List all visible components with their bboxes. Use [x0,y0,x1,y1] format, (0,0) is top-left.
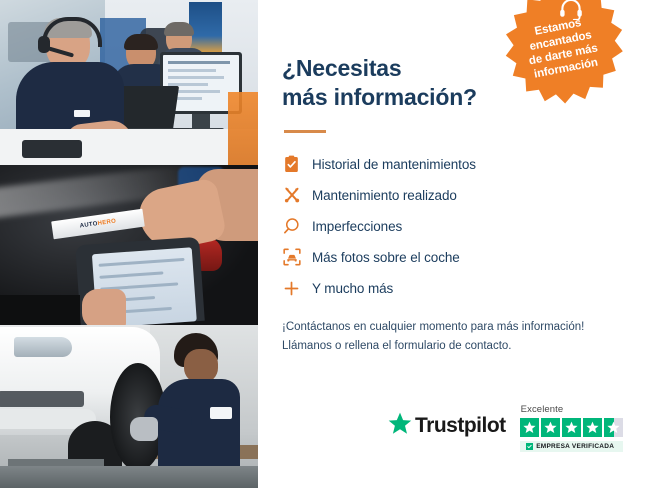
trustpilot-rating: Excelente [520,404,623,452]
crossed-tools-icon [282,185,312,205]
trustpilot-wordmark: Trustpilot [415,414,506,438]
feature-item-maintenance-history: Historial de mantenimientos [282,149,628,180]
autohero-brand-text: AUTOHERO [79,218,116,229]
feature-label: Y mucho más [312,281,393,296]
content-panel: ¿Necesitas más información? Historial de… [258,0,650,488]
feature-item-imperfections: Imperfecciones [282,211,628,242]
page-title: ¿Necesitas más información? [282,54,512,113]
photo-column: AUTOHERO [0,0,258,488]
photo3-mechanic [158,333,240,488]
star-icon [562,418,581,437]
rating-label: Excelente [520,404,564,415]
feature-label: Imperfecciones [312,219,402,234]
star-rating [520,418,623,437]
photo2-shadow [0,295,80,325]
verified-label: EMPRESA VERIFICADA [536,443,614,450]
star-icon [541,418,560,437]
feature-list: Historial de mantenimientos M [282,149,628,304]
feature-item-maintenance-done: Mantenimiento realizado [282,180,628,211]
feature-item-more-photos: Más fotos sobre el coche [282,242,628,273]
feature-item-much-more: Y mucho más [282,273,628,304]
star-icon-partial [604,418,623,437]
feature-label: Más fotos sobre el coche [312,250,460,265]
verified-check-icon [526,443,533,450]
headline-line-2: más información? [282,83,512,112]
title-divider [284,130,326,133]
car-scan-icon [282,247,312,267]
contact-line-1: ¡Contáctanos en cualquier momento para m… [282,318,628,337]
magnifier-icon [282,217,312,236]
star-icon [520,418,539,437]
vehicle-inspection-photo: AUTOHERO [0,165,258,325]
photo3-lift [0,466,258,488]
trustpilot-logo[interactable]: Trustpilot [388,412,506,452]
star-icon [583,418,602,437]
trustpilot-star-icon [388,412,412,440]
call-center-agent-photo [0,0,258,165]
feature-label: Mantenimiento realizado [312,188,457,203]
clipboard-check-icon [282,155,312,174]
photo2-second-hand [82,289,126,325]
mechanic-wheel-photo [0,325,258,488]
contact-line-2: Llámanos o rellena el formulario de cont… [282,337,628,356]
plus-icon [282,279,312,298]
contact-text: ¡Contáctanos en cualquier momento para m… [282,318,628,355]
photo1-orange-equipment [228,92,258,165]
information-banner: AUTOHERO [0,0,650,488]
photo1-tablet [22,140,82,158]
headline-line-1: ¿Necesitas [282,54,512,83]
status-badge: EMPRESA VERIFICADA [520,441,623,452]
trustpilot-block[interactable]: Trustpilot Excelente [388,404,623,452]
feature-label: Historial de mantenimientos [312,157,476,172]
promo-badge: Estamos encantados de darte más informac… [496,0,628,110]
